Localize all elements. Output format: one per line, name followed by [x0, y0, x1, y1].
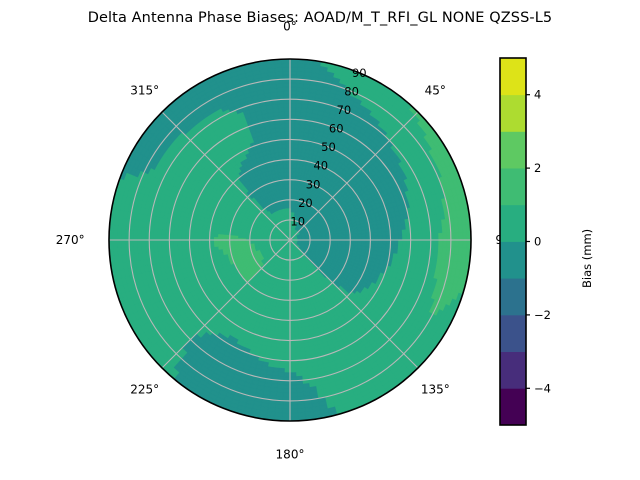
- colorbar-band: [500, 58, 526, 95]
- colorbar-bands: [500, 58, 526, 425]
- radial-tick-label: 30: [306, 177, 321, 191]
- colorbar-tick-label: −4: [534, 381, 551, 395]
- theta-tick-label: 315°: [130, 84, 159, 98]
- polar-bias-figure: Delta Antenna Phase Biases: AOAD/M_T_RFI…: [0, 0, 640, 480]
- colorbar-band: [500, 168, 526, 205]
- colorbar-tick-label: −2: [534, 308, 551, 322]
- colorbar-tick-label: 4: [534, 88, 541, 102]
- radial-tick-label: 40: [313, 159, 328, 173]
- radial-tick-label: 10: [290, 214, 305, 228]
- colorbar-band: [500, 388, 526, 425]
- radial-tick-label: 70: [337, 103, 352, 117]
- colorbar-band: [500, 242, 526, 279]
- colorbar-axis-label: Bias (mm): [580, 229, 594, 288]
- colorbar-band: [500, 205, 526, 242]
- colorbar: 420−2−4: [500, 58, 551, 425]
- theta-tick-label: 45°: [425, 84, 446, 98]
- colorbar-band: [500, 352, 526, 389]
- theta-tick-label: 135°: [421, 382, 450, 396]
- radial-tick-label: 80: [344, 84, 359, 98]
- polar-contour-plot: 0°45°90°135°180°225°270°315° 10203040506…: [0, 0, 640, 480]
- radial-tick-label: 20: [298, 196, 313, 210]
- colorbar-band: [500, 95, 526, 132]
- radial-tick-label: 90: [352, 66, 367, 80]
- colorbar-band: [500, 278, 526, 315]
- colorbar-band: [500, 315, 526, 352]
- theta-tick-label: 225°: [130, 382, 159, 396]
- page-title: Delta Antenna Phase Biases: AOAD/M_T_RFI…: [0, 10, 640, 26]
- theta-tick-label: 270°: [56, 233, 85, 247]
- colorbar-band: [500, 131, 526, 168]
- colorbar-tick-label: 0: [534, 235, 541, 249]
- radial-tick-label: 60: [329, 122, 344, 136]
- polar-grid: [109, 59, 471, 421]
- theta-tick-label: 180°: [276, 447, 305, 461]
- colorbar-tick-label: 2: [534, 161, 541, 175]
- colorbar-ticks: 420−2−4: [526, 88, 551, 396]
- radial-tick-label: 50: [321, 140, 336, 154]
